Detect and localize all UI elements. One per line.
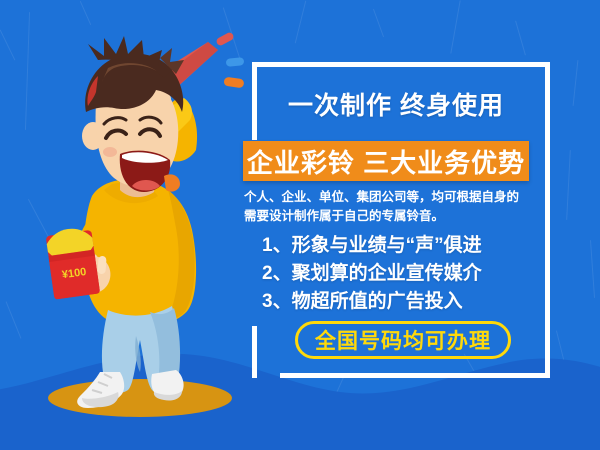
description-text: 个人、企业、单位、集团公司等，均可根据自身的需要设计制作属于自己的专属铃音。: [244, 188, 528, 226]
character-illustration: ¥100: [0, 0, 260, 450]
cta-button[interactable]: 全国号码均可办理: [295, 321, 511, 359]
ground-shadow-ellipse: [48, 379, 232, 417]
advantage-list: 1、形象与业绩与“声”俱进 2、聚划算的企业宣传媒介 3、物超所值的广告投入: [262, 232, 532, 316]
orange-band-text: 企业彩铃 三大业务优势: [247, 143, 525, 180]
cta-label: 全国号码均可办理: [315, 325, 491, 355]
promo-poster: ¥100: [0, 0, 600, 450]
red-envelope: ¥100: [45, 226, 100, 300]
headline: 一次制作 终身使用: [288, 86, 504, 122]
list-item: 2、聚划算的企业宣传媒介: [262, 260, 532, 288]
sound-wave-dashes: [215, 31, 244, 88]
head: [82, 36, 184, 192]
list-item: 1、形象与业绩与“声”俱进: [262, 232, 532, 260]
list-item: 3、物超所值的广告投入: [262, 288, 532, 316]
orange-title-band: 企业彩铃 三大业务优势: [243, 141, 529, 181]
